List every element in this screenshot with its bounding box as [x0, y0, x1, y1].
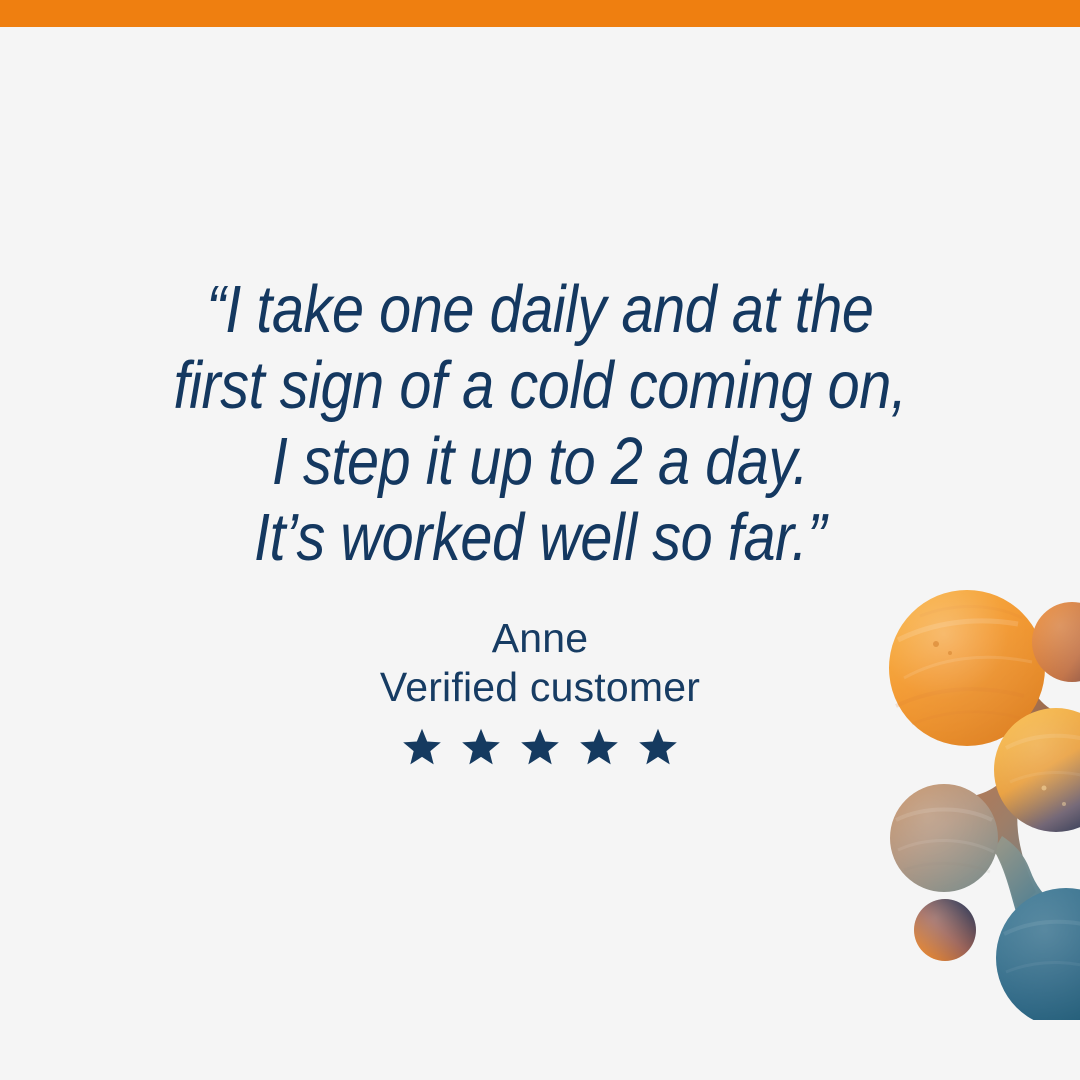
customer-name: Anne [0, 614, 1080, 663]
star-icon-1 [401, 726, 443, 768]
customer-role: Verified customer [0, 663, 1080, 712]
star-icon-2 [460, 726, 502, 768]
testimonial-card: “I take one daily and at the first sign … [0, 0, 1080, 1080]
attribution-block: Anne Verified customer [0, 614, 1080, 712]
star-rating [0, 726, 1080, 768]
quote-line-2: first sign of a cold coming on, [76, 348, 1005, 424]
star-icon-5 [637, 726, 679, 768]
star-icon-3 [519, 726, 561, 768]
molecule-graphic [860, 520, 1080, 1020]
quote-line-4: It’s worked well so far.” [76, 500, 1005, 576]
quote-text: “I take one daily and at the first sign … [0, 272, 1080, 576]
star-icon-4 [578, 726, 620, 768]
top-accent-bar [0, 0, 1080, 27]
quote-line-1: “I take one daily and at the [76, 272, 1005, 348]
quote-line-3: I step it up to 2 a day. [76, 424, 1005, 500]
